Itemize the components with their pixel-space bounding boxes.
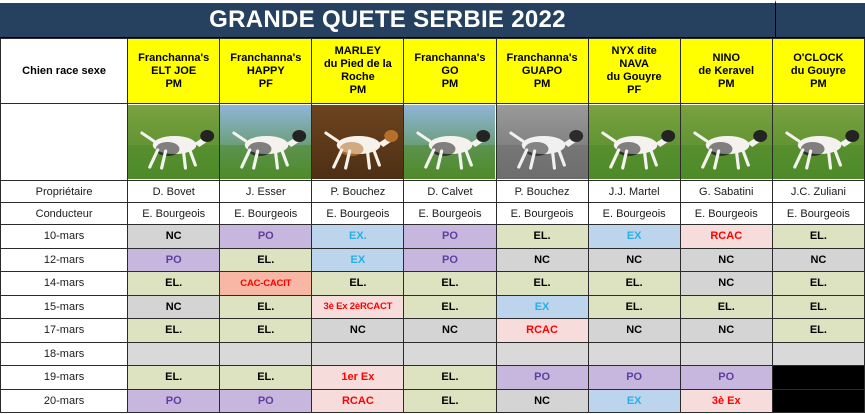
page-title: GRANDE QUETE SERBIE 2022: [0, 0, 776, 37]
result-cell: NC: [496, 389, 588, 413]
result-cell: EL.: [404, 295, 496, 319]
result-cell: EL.: [220, 248, 312, 272]
result-cell: [772, 366, 864, 390]
dog-name-line: de Keravel: [681, 65, 772, 78]
result-cell: NC: [588, 319, 680, 343]
result-cell: RCAC: [496, 319, 588, 343]
date-row-20-mars: 20-mars POPORCACEL.NCEX3è Ex: [1, 389, 865, 413]
row-label-20-mars: 20-mars: [1, 389, 128, 413]
result-cell: PO: [128, 389, 220, 413]
result-cell: NC: [496, 248, 588, 272]
dog-name-line: PM: [312, 84, 403, 97]
result-cell: EX: [588, 389, 680, 413]
dog-photo-cell-7[interactable]: [680, 104, 772, 181]
dog-name-line: PF: [220, 78, 311, 91]
owner-cell: G. Sabatini: [680, 181, 772, 203]
owner-cell: J. Esser: [220, 181, 312, 203]
date-row-14-mars: 14-mars EL.CAC-CACITEL.EL.EL.EL.NCEL.: [1, 272, 865, 296]
dog-name-line: du Pied de la: [312, 58, 403, 71]
result-cell: NC: [680, 319, 772, 343]
title-bar: GRANDE QUETE SERBIE 2022: [0, 0, 865, 38]
row-label-conducteur: Conducteur: [1, 203, 128, 225]
result-cell: [496, 342, 588, 366]
dog-header-2[interactable]: Franchanna'sHAPPYPF: [220, 39, 312, 104]
handler-cell: E. Bourgeois: [220, 203, 312, 225]
handler-cell: E. Bourgeois: [404, 203, 496, 225]
dog-header-4[interactable]: Franchanna'sGOPM: [404, 39, 496, 104]
corner-label: Chien race sexe: [1, 39, 128, 104]
result-cell: EL.: [404, 366, 496, 390]
results-table-page: GRANDE QUETE SERBIE 2022 Chien race sexe…: [0, 0, 865, 414]
handler-cell: E. Bourgeois: [588, 203, 680, 225]
date-row-17-mars: 17-mars EL.EL.NCNCRCACNCNCEL.: [1, 319, 865, 343]
dog-photo-elt-joe: [128, 105, 219, 179]
dog-name-line: Franchanna's: [220, 52, 311, 65]
photo-corner-cell: [1, 104, 128, 181]
result-cell: [680, 342, 772, 366]
result-cell: EL.: [220, 366, 312, 390]
row-label-15-mars: 15-mars: [1, 295, 128, 319]
result-cell: [588, 342, 680, 366]
owner-row: Propriétaire D. BovetJ. EsserP. BouchezD…: [1, 181, 865, 203]
dog-photo-cell-2[interactable]: [220, 104, 312, 181]
dog-photo-cell-4[interactable]: [404, 104, 496, 181]
result-cell: EX: [588, 225, 680, 249]
result-cell: EL.: [588, 272, 680, 296]
handler-cell: E. Bourgeois: [680, 203, 772, 225]
dog-name-line: Roche: [312, 71, 403, 84]
result-cell: 3è Ex: [680, 389, 772, 413]
date-row-19-mars: 19-mars EL.EL.1er ExEL.POPOPO: [1, 366, 865, 390]
result-cell: NC: [128, 225, 220, 249]
dog-photo-nyx-nava: [589, 105, 680, 179]
result-cell: EL.: [772, 319, 864, 343]
dog-name-line: NYX dite: [589, 45, 680, 58]
result-cell: EL.: [128, 319, 220, 343]
result-cell: 3è Ex 2èRCACT: [312, 295, 404, 319]
owner-cell: D. Calvet: [404, 181, 496, 203]
result-cell: NC: [312, 319, 404, 343]
result-cell: EL.: [772, 272, 864, 296]
owner-cell: J.C. Zuliani: [772, 181, 864, 203]
date-row-12-mars: 12-mars POEL.EXPONCNCNCNC: [1, 248, 865, 272]
dog-name-line: NAVA: [589, 58, 680, 71]
dog-header-3[interactable]: MARLEYdu Pied de laRochePM: [312, 39, 404, 104]
result-cell: NC: [680, 272, 772, 296]
row-label-proprietaire: Propriétaire: [1, 181, 128, 203]
dog-photos-row: [1, 104, 865, 181]
handler-row: Conducteur E. BourgeoisE. BourgeoisE. Bo…: [1, 203, 865, 225]
result-cell: NC: [404, 319, 496, 343]
dog-photo-cell-5[interactable]: [496, 104, 588, 181]
result-cell: RCAC: [680, 225, 772, 249]
result-cell: EL.: [404, 389, 496, 413]
dog-name-line: Franchanna's: [128, 52, 219, 65]
dog-name-line: GUAPO: [497, 65, 588, 78]
result-cell: EL.: [128, 272, 220, 296]
dog-name-line: Franchanna's: [404, 52, 495, 65]
owner-cell: P. Bouchez: [496, 181, 588, 203]
dog-photo-cell-1[interactable]: [128, 104, 220, 181]
result-cell: 1er Ex: [312, 366, 404, 390]
dog-photo-cell-3[interactable]: [312, 104, 404, 181]
result-cell: [404, 342, 496, 366]
row-label-19-mars: 19-mars: [1, 366, 128, 390]
dog-header-6[interactable]: NYX diteNAVAdu GouyrePF: [588, 39, 680, 104]
result-cell: EL.: [312, 272, 404, 296]
result-cell: EX: [312, 248, 404, 272]
dog-photo-nino: [681, 105, 772, 179]
result-cell: EL.: [680, 295, 772, 319]
dog-name-line: PM: [497, 78, 588, 91]
title-bar-filler: [776, 0, 865, 37]
result-cell: EL.: [772, 295, 864, 319]
row-label-17-mars: 17-mars: [1, 319, 128, 343]
result-cell: NC: [128, 295, 220, 319]
dog-photo-happy: [220, 105, 311, 179]
result-cell: [128, 342, 220, 366]
result-cell: NC: [588, 248, 680, 272]
dog-name-line: NINO: [681, 52, 772, 65]
dog-photo-oclock: [773, 105, 864, 179]
result-cell: [772, 342, 864, 366]
result-cell: [220, 342, 312, 366]
dog-photo-guapo: [497, 105, 588, 179]
dog-header-5[interactable]: Franchanna'sGUAPOPM: [496, 39, 588, 104]
dog-header-7[interactable]: NINOde KeravelPM: [680, 39, 772, 104]
dog-name-line: HAPPY: [220, 65, 311, 78]
dog-photo-cell-6[interactable]: [588, 104, 680, 181]
result-cell: EL.: [772, 225, 864, 249]
dog-photo-go: [404, 105, 495, 179]
dog-name-line: O'CLOCK: [773, 52, 864, 65]
row-label-10-mars: 10-mars: [1, 225, 128, 249]
handler-cell: E. Bourgeois: [772, 203, 864, 225]
dog-name-line: GO: [404, 65, 495, 78]
results-table: Chien race sexe Franchanna'sELT JOEPMFra…: [0, 38, 865, 413]
result-cell: EX.: [312, 225, 404, 249]
result-cell: PO: [404, 225, 496, 249]
handler-cell: E. Bourgeois: [312, 203, 404, 225]
result-cell: PO: [496, 366, 588, 390]
result-cell: EL.: [496, 225, 588, 249]
result-cell: RCAC: [312, 389, 404, 413]
row-label-14-mars: 14-mars: [1, 272, 128, 296]
dog-name-line: du Gouyre: [589, 71, 680, 84]
date-row-10-mars: 10-mars NCPOEX.POEL.EXRCACEL.: [1, 225, 865, 249]
result-cell: CAC-CACIT: [220, 272, 312, 296]
dog-name-line: Franchanna's: [497, 52, 588, 65]
result-cell: [312, 342, 404, 366]
result-cell: PO: [680, 366, 772, 390]
dog-photo-marley: [312, 105, 403, 179]
handler-cell: E. Bourgeois: [496, 203, 588, 225]
dog-name-line: MARLEY: [312, 45, 403, 58]
result-cell: NC: [680, 248, 772, 272]
owner-cell: J.J. Martel: [588, 181, 680, 203]
result-cell: EL.: [496, 272, 588, 296]
result-cell: PO: [128, 248, 220, 272]
dog-name-line: PM: [404, 78, 495, 91]
result-cell: PO: [588, 366, 680, 390]
result-cell: EL.: [128, 366, 220, 390]
dog-names-row: Chien race sexe Franchanna'sELT JOEPMFra…: [1, 39, 865, 104]
dog-name-line: PM: [773, 78, 864, 91]
dog-name-line: ELT JOE: [128, 65, 219, 78]
result-cell: [772, 389, 864, 413]
result-cell: EX: [496, 295, 588, 319]
dog-name-line: PF: [589, 84, 680, 97]
date-row-15-mars: 15-mars NCEL.3è Ex 2èRCACTEL.EXEL.EL.EL.: [1, 295, 865, 319]
owner-cell: P. Bouchez: [312, 181, 404, 203]
dog-header-8[interactable]: O'CLOCKdu GouyrePM: [772, 39, 864, 104]
result-cell: EL.: [588, 295, 680, 319]
result-cell: NC: [772, 248, 864, 272]
dog-photo-cell-8[interactable]: [772, 104, 864, 181]
dog-header-1[interactable]: Franchanna'sELT JOEPM: [128, 39, 220, 104]
result-cell: PO: [404, 248, 496, 272]
result-cell: PO: [220, 225, 312, 249]
date-row-18-mars: 18-mars: [1, 342, 865, 366]
owner-cell: D. Bovet: [128, 181, 220, 203]
dog-name-line: PM: [128, 78, 219, 91]
result-cell: PO: [220, 389, 312, 413]
row-label-18-mars: 18-mars: [1, 342, 128, 366]
result-cell: EL.: [404, 272, 496, 296]
dog-name-line: PM: [681, 78, 772, 91]
row-label-12-mars: 12-mars: [1, 248, 128, 272]
dog-name-line: du Gouyre: [773, 65, 864, 78]
handler-cell: E. Bourgeois: [128, 203, 220, 225]
result-cell: EL.: [220, 319, 312, 343]
result-cell: EL.: [220, 295, 312, 319]
